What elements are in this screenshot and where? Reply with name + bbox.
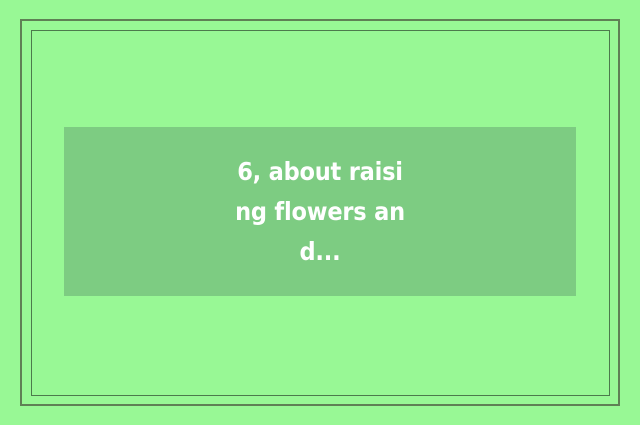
caption-text: 6, about raising flowers and...	[233, 152, 407, 272]
caption-panel: 6, about raising flowers and...	[64, 127, 576, 296]
placeholder-card-canvas: 6, about raising flowers and...	[0, 0, 640, 425]
